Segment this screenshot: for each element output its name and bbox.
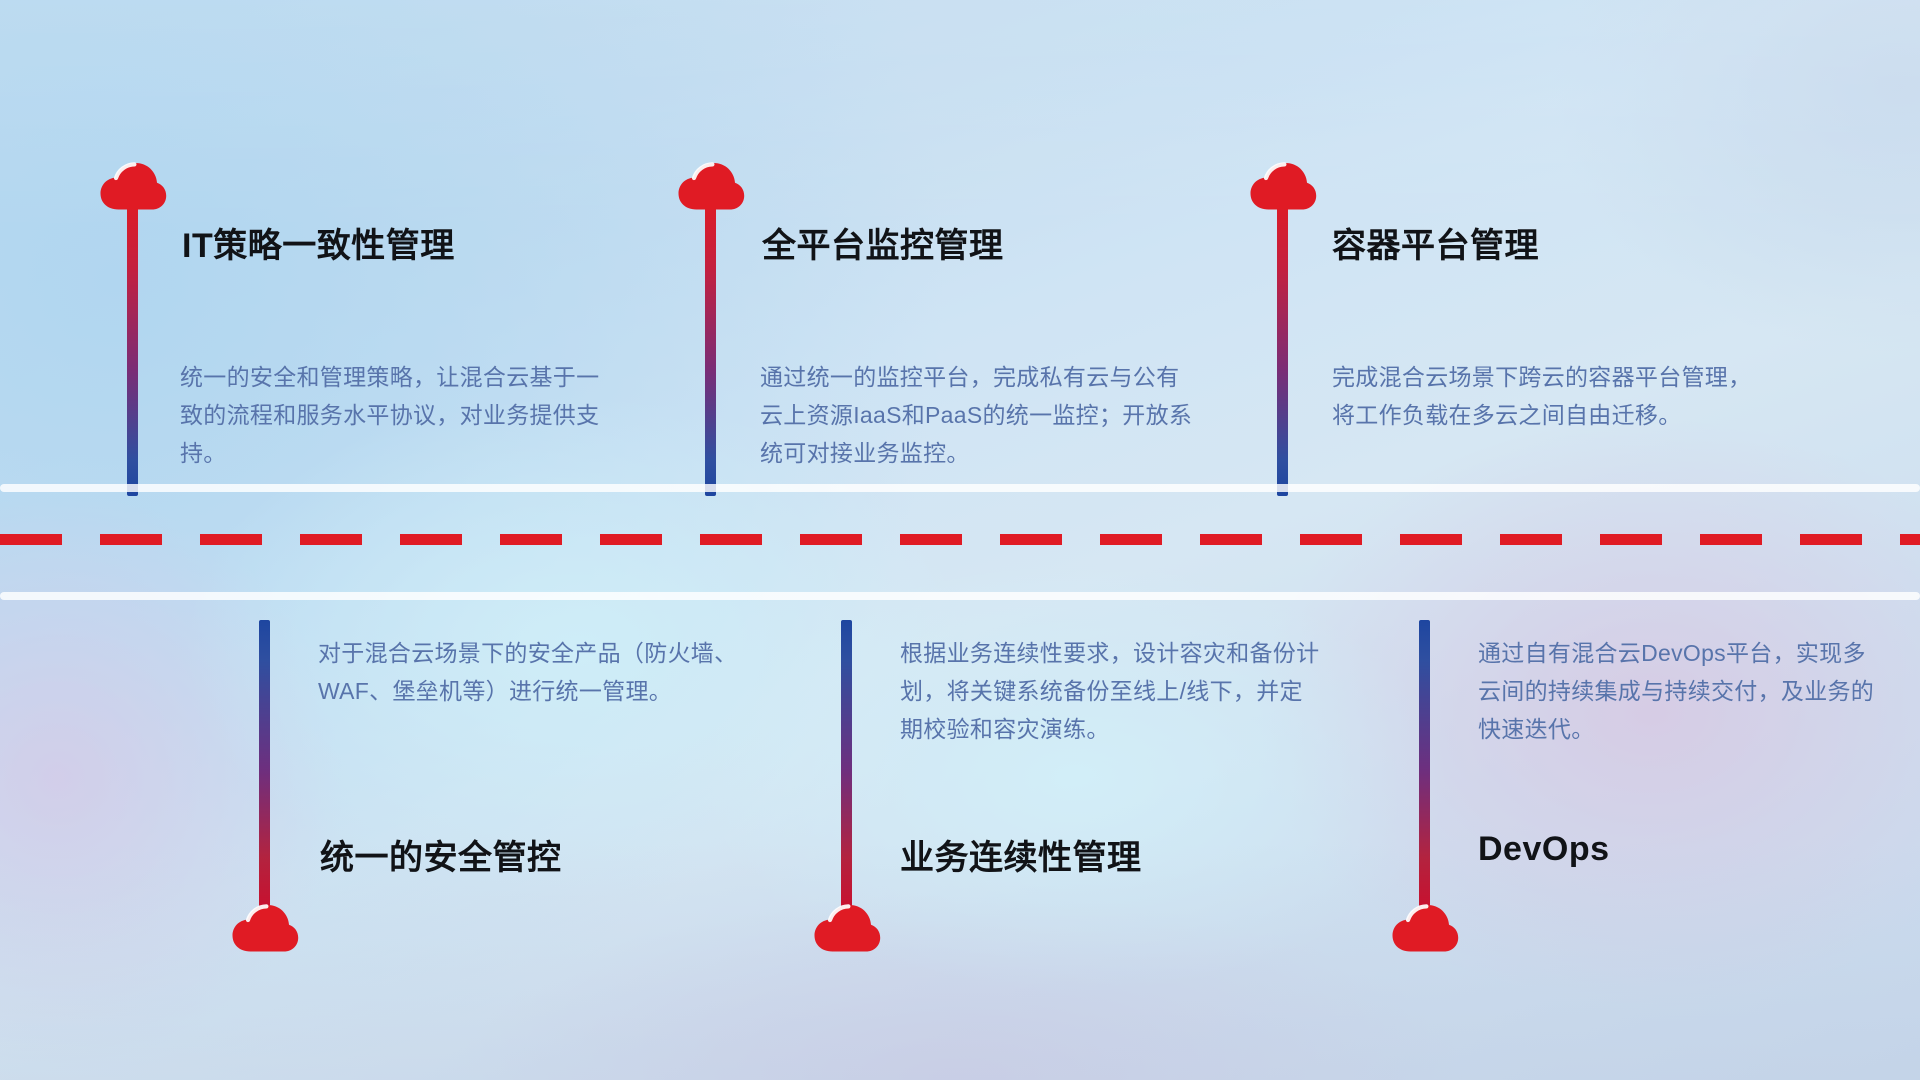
bottom-heading-1: 统一的安全管控 — [320, 830, 562, 879]
bottom-heading-3: DevOps — [1478, 830, 1610, 869]
bottom-stem-3 — [1419, 620, 1430, 910]
top-heading-2: 全平台监控管理 — [762, 218, 1004, 267]
cloud-marker-icon — [812, 902, 882, 954]
top-heading-3: 容器平台管理 — [1332, 218, 1539, 267]
bottom-stem-2 — [841, 620, 852, 910]
top-body-3: 完成混合云场景下跨云的容器平台管理，将工作负载在多云之间自由迁移。 — [1332, 358, 1762, 434]
bottom-body-3: 通过自有混合云DevOps平台，实现多云间的持续集成与持续交付，及业务的快速迭代… — [1478, 634, 1878, 748]
top-stem-3 — [1277, 196, 1288, 496]
infographic-canvas: IT策略一致性管理 统一的安全和管理策略，让混合云基于一致的流程和服务水平协议，… — [0, 0, 1920, 1080]
bottom-heading-2: 业务连续性管理 — [900, 830, 1142, 879]
top-stem-2 — [705, 196, 716, 496]
top-body-2: 通过统一的监控平台，完成私有云与公有云上资源IaaS和PaaS的统一监控；开放系… — [760, 358, 1196, 472]
divider-rule-top — [0, 484, 1920, 492]
bottom-stem-1 — [259, 620, 270, 910]
bottom-body-1: 对于混合云场景下的安全产品（防火墙、WAF、堡垒机等）进行统一管理。 — [318, 634, 748, 710]
cloud-marker-icon — [230, 902, 300, 954]
cloud-marker-icon — [98, 160, 168, 212]
divider-rule-bottom — [0, 592, 1920, 600]
divider-dashed-line — [0, 534, 1920, 545]
divider-band — [0, 484, 1920, 604]
top-stem-1 — [127, 196, 138, 496]
top-heading-1: IT策略一致性管理 — [182, 218, 455, 267]
cloud-marker-icon — [1248, 160, 1318, 212]
cloud-marker-icon — [1390, 902, 1460, 954]
cloud-marker-icon — [676, 160, 746, 212]
top-body-1: 统一的安全和管理策略，让混合云基于一致的流程和服务水平协议，对业务提供支持。 — [180, 358, 610, 472]
bottom-body-2: 根据业务连续性要求，设计容灾和备份计划，将关键系统备份至线上/线下，并定期校验和… — [900, 634, 1320, 748]
